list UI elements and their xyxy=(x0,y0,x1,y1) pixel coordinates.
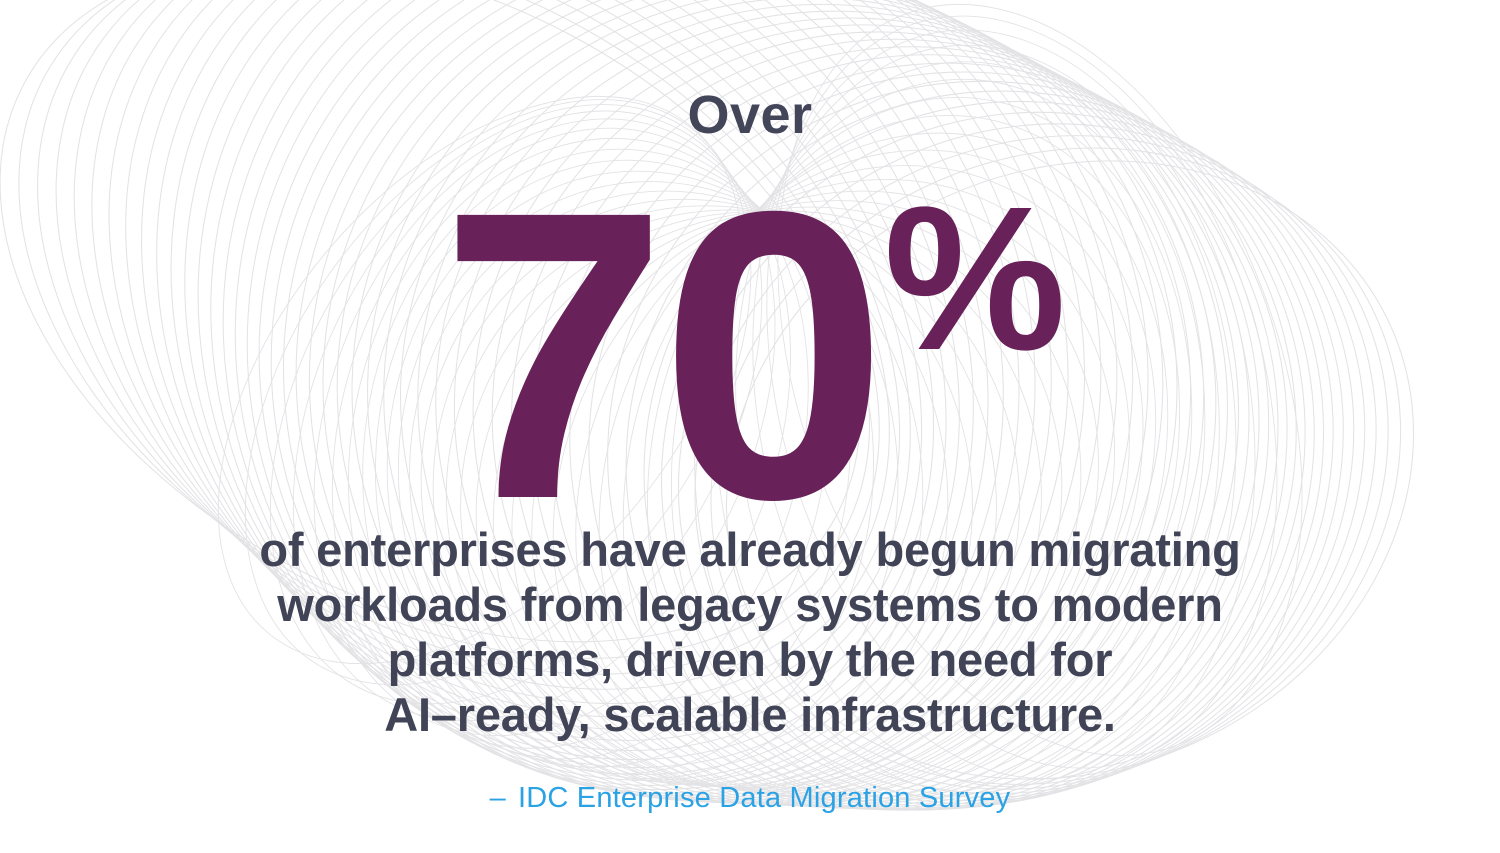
stat-value-row: 70% xyxy=(0,150,1500,560)
stat-body-copy: of enterprises have already begun migrat… xyxy=(0,522,1500,742)
stat-big-number: 70 xyxy=(440,126,880,584)
body-copy-line-4: AI–ready, scalable infrastructure. xyxy=(0,687,1500,742)
attribution-dash: – xyxy=(490,782,506,814)
body-copy-line-1: of enterprises have already begun migrat… xyxy=(0,522,1500,577)
stat-percent-symbol: % xyxy=(884,164,1064,393)
body-copy-line-2: workloads from legacy systems to modern xyxy=(0,577,1500,632)
infographic-stat-card: Over 70% of enterprises have already beg… xyxy=(0,0,1500,853)
attribution-source-name: IDC Enterprise Data Migration Survey xyxy=(518,782,1010,814)
body-copy-line-3: platforms, driven by the need for xyxy=(0,632,1500,687)
source-attribution: –IDC Enterprise Data Migration Survey xyxy=(0,781,1500,816)
